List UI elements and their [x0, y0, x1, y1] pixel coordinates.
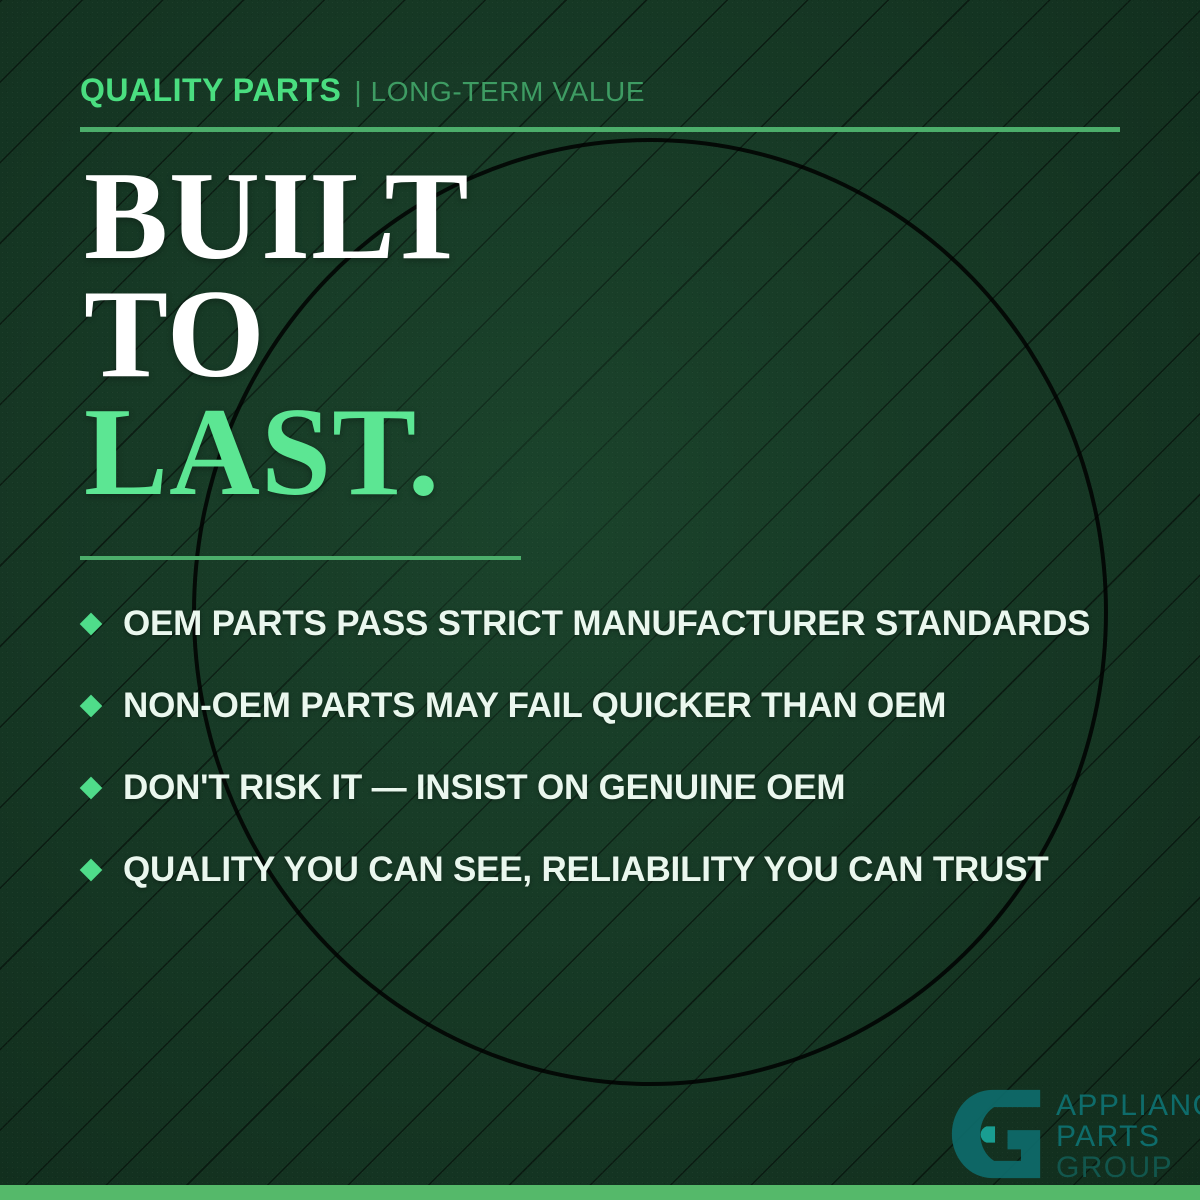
promo-poster: QUALITY PARTS | LONG-TERM VALUE BUILT TO… [0, 0, 1200, 1200]
list-item-label: NON-OEM PARTS MAY FAIL QUICKER THAN OEM [123, 686, 946, 726]
brand-logo-wordmark: APPLIANCE PARTS GROUP [1056, 1086, 1200, 1183]
eyebrow-title: QUALITY PARTS [80, 72, 341, 109]
headline-divider-rule [80, 556, 521, 560]
logo-line-3: GROUP [1056, 1152, 1200, 1183]
list-item-label: QUALITY YOU CAN SEE, RELIABILITY YOU CAN… [123, 850, 1049, 890]
header-divider-rule [80, 127, 1120, 132]
headline-line-2: TO [84, 276, 470, 394]
g-monogram-icon [948, 1086, 1044, 1182]
list-item-label: DON'T RISK IT — INSIST ON GENUINE OEM [123, 768, 845, 808]
diamond-bullet-icon [80, 695, 103, 718]
headline-line-3: LAST. [84, 394, 470, 512]
diamond-bullet-icon [80, 859, 103, 882]
list-item: QUALITY YOU CAN SEE, RELIABILITY YOU CAN… [80, 829, 1155, 911]
headline-line-1: BUILT [84, 158, 470, 276]
list-item: DON'T RISK IT — INSIST ON GENUINE OEM [80, 747, 1155, 829]
benefits-list: OEM PARTS PASS STRICT MANUFACTURER STAND… [80, 583, 1155, 911]
diamond-bullet-icon [80, 613, 103, 636]
brand-logo: APPLIANCE PARTS GROUP [948, 1086, 1200, 1183]
logo-line-2: PARTS [1056, 1121, 1200, 1152]
list-item: OEM PARTS PASS STRICT MANUFACTURER STAND… [80, 583, 1155, 665]
headline-block: BUILT TO LAST. [84, 158, 470, 512]
list-item: NON-OEM PARTS MAY FAIL QUICKER THAN OEM [80, 665, 1155, 747]
eyebrow-header: QUALITY PARTS | LONG-TERM VALUE [80, 72, 645, 109]
logo-line-1: APPLIANCE [1056, 1090, 1200, 1121]
bottom-accent-bar [0, 1185, 1200, 1200]
list-item-label: OEM PARTS PASS STRICT MANUFACTURER STAND… [123, 604, 1090, 644]
eyebrow-subtitle: | LONG-TERM VALUE [354, 76, 645, 108]
diamond-bullet-icon [80, 777, 103, 800]
